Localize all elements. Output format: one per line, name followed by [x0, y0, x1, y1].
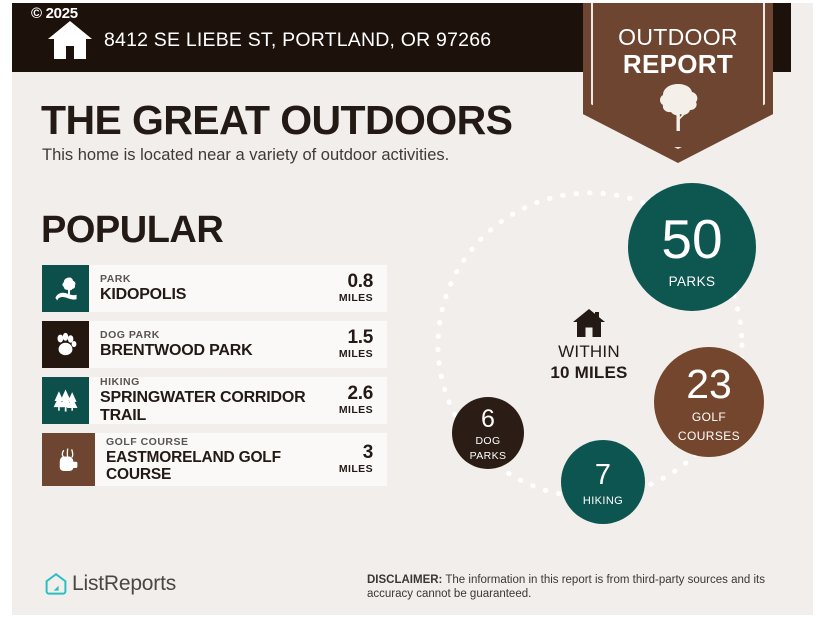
- list-item-text: HIKING SPRINGWATER CORRIDOR TRAIL: [89, 377, 325, 424]
- within-10-miles-diagram: 50 PARKS 23 GOLF COURSES 6 DOG PARKS 7 H…: [420, 175, 810, 540]
- stat-label-line2: COURSES: [678, 429, 740, 443]
- outdoor-report-badge: OUTDOOR REPORT: [583, 0, 773, 163]
- list-item-name: EASTMORELAND GOLF COURSE: [106, 449, 325, 483]
- stat-count: 6: [481, 407, 495, 432]
- distance-unit: MILES: [339, 348, 373, 361]
- list-item[interactable]: GOLF COURSE EASTMORELAND GOLF COURSE 3 M…: [42, 433, 387, 486]
- disclaimer: DISCLAIMER: The information in this repo…: [367, 573, 787, 601]
- list-item-name: SPRINGWATER CORRIDOR TRAIL: [100, 389, 325, 424]
- list-item-text: GOLF COURSE EASTMORELAND GOLF COURSE: [95, 433, 325, 486]
- badge-title-line1: OUTDOOR: [583, 24, 773, 51]
- list-item[interactable]: HIKING SPRINGWATER CORRIDOR TRAIL 2.6 MI…: [42, 377, 387, 424]
- page-edge-bottom: [0, 615, 825, 619]
- stat-bubble-hiking[interactable]: 7 HIKING: [561, 440, 645, 524]
- list-item-distance: 3 MILES: [325, 433, 387, 486]
- list-item-category: HIKING: [100, 377, 325, 389]
- listreports-logo-text: ListReports: [72, 572, 176, 596]
- within-label-line2: 10 MILES: [514, 363, 664, 383]
- stat-label-line2: PARKS: [470, 450, 507, 462]
- within-label-line1: WITHIN: [514, 342, 664, 362]
- list-item-text: PARK KIDOPOLIS: [89, 265, 325, 312]
- list-item-text: DOG PARK BRENTWOOD PARK: [89, 321, 325, 368]
- list-item-category: GOLF COURSE: [106, 436, 325, 449]
- stat-count: 50: [661, 212, 722, 267]
- page-subtitle: This home is located near a variety of o…: [42, 146, 449, 165]
- distance-value: 2.6: [347, 384, 373, 404]
- popular-places-list: PARK KIDOPOLIS 0.8 MILES DOG PARK: [42, 265, 387, 495]
- list-item-name: BRENTWOOD PARK: [100, 342, 325, 360]
- stat-count: 23: [686, 364, 732, 405]
- page-title: THE GREAT OUTDOORS: [41, 97, 512, 144]
- outdoor-report-page: © 2025 8412 SE LIEBE ST, PORTLAND, OR 97…: [0, 0, 825, 619]
- distance-unit: MILES: [339, 463, 373, 476]
- distance-unit: MILES: [339, 292, 373, 305]
- property-address: 8412 SE LIEBE ST, PORTLAND, OR 97266: [104, 29, 491, 52]
- home-icon: [572, 308, 606, 338]
- listreports-logo-icon: [44, 572, 68, 596]
- list-item-distance: 0.8 MILES: [325, 265, 387, 312]
- stat-bubble-golf-courses[interactable]: 23 GOLF COURSES: [654, 347, 764, 457]
- paw-print-icon: [42, 321, 89, 368]
- popular-section-heading: POPULAR: [41, 209, 223, 252]
- distance-value: 0.8: [347, 272, 373, 292]
- stat-label-line1: GOLF: [692, 410, 726, 424]
- list-item-name: KIDOPOLIS: [100, 286, 325, 304]
- distance-value: 1.5: [347, 328, 373, 348]
- list-item[interactable]: PARK KIDOPOLIS 0.8 MILES: [42, 265, 387, 312]
- disclaimer-label: DISCLAIMER:: [367, 574, 442, 586]
- stat-count: 7: [595, 461, 611, 490]
- list-item-category: PARK: [100, 273, 325, 286]
- list-item[interactable]: DOG PARK BRENTWOOD PARK 1.5 MILES: [42, 321, 387, 368]
- pine-trees-icon: [42, 377, 89, 424]
- home-icon: [47, 20, 93, 60]
- list-item-distance: 1.5 MILES: [325, 321, 387, 368]
- badge-title-line2: REPORT: [583, 49, 773, 80]
- stat-label: PARKS: [669, 274, 716, 289]
- page-edge-right: [813, 0, 825, 619]
- distance-unit: MILES: [339, 404, 373, 417]
- stat-bubble-parks[interactable]: 50 PARKS: [628, 183, 756, 311]
- tree-icon: [656, 82, 700, 132]
- stat-label-line1: DOG: [475, 435, 500, 447]
- distance-value: 3: [363, 443, 373, 463]
- list-item-category: DOG PARK: [100, 329, 325, 342]
- list-item-distance: 2.6 MILES: [325, 377, 387, 424]
- stat-bubble-dog-parks[interactable]: 6 DOG PARKS: [452, 397, 524, 469]
- stat-label: HIKING: [583, 495, 623, 507]
- park-tree-icon: [42, 265, 89, 312]
- golf-bag-icon: [42, 433, 95, 486]
- page-edge-left: [0, 0, 12, 619]
- page-edge-top: [0, 0, 825, 3]
